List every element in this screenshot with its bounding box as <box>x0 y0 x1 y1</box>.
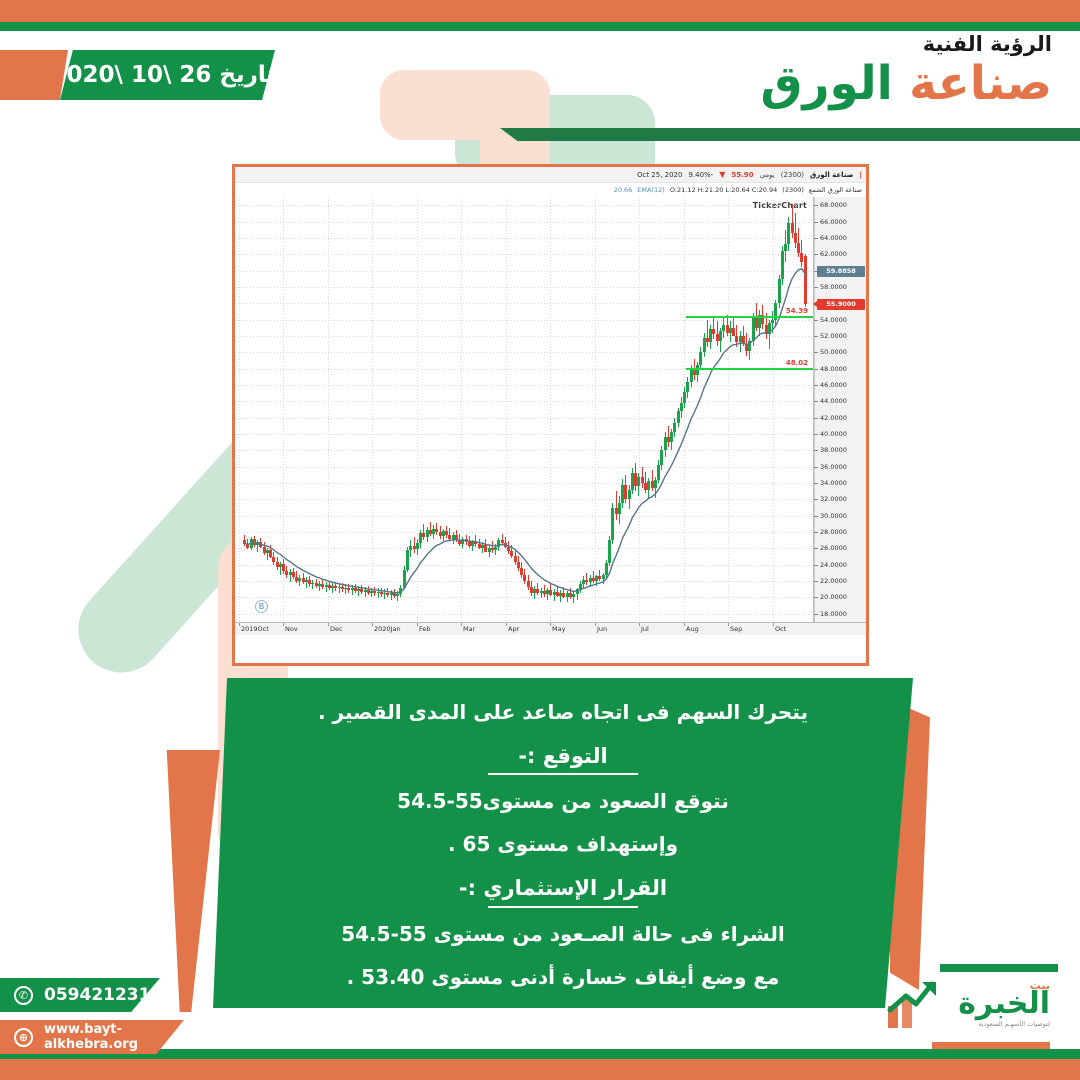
whatsapp-chip[interactable]: ✆ 0594212312 <box>0 978 160 1012</box>
price-axis-tick: 42.0000 <box>814 413 866 423</box>
analysis-divider <box>488 773 638 775</box>
chart-panel: | صناعة الورق (2300) يومي 55.90 ▼ -9.40%… <box>232 164 869 666</box>
poster-canvas: بتاريخ 26 \10 \2020 الرؤية الفنية صناعة … <box>0 0 1080 1080</box>
brand-name: بيت الخبرة <box>958 980 1050 1019</box>
brand-tagline: لتوصيات الأسهـم السعودية <box>978 1020 1050 1028</box>
price-axis-tick: 32.0000 <box>814 494 866 504</box>
decor-orange-wedge-left <box>148 750 220 1012</box>
date-ribbon: بتاريخ 26 \10 \2020 <box>60 50 275 100</box>
date-axis[interactable]: 2019OctNovDec2020JanFebMarAprMayJunJulAu… <box>235 622 866 635</box>
date-axis-tick: May <box>550 623 565 636</box>
price-axis-tick: 46.0000 <box>814 380 866 390</box>
analysis-text: نتوقع الصعود من مستوى55-54.5 <box>271 789 855 814</box>
price-axis-tick: 34.0000 <box>814 478 866 488</box>
support-resistance-label: 54.39 <box>785 307 809 315</box>
date-axis-tick: Sep <box>728 623 742 636</box>
price-axis-tick: 18.0000 <box>814 609 866 619</box>
support-resistance-line <box>686 316 813 318</box>
support-resistance-label: 48.02 <box>785 359 809 367</box>
analysis-text: مع وضع أيقاف خسارة أدنى مستوى 53.40 . <box>271 965 855 990</box>
analysis-divider <box>488 906 638 908</box>
price-axis-tick: 52.0000 <box>814 331 866 341</box>
analysis-text: يتحرك السهم فى اتجاه صاعد على المدى القص… <box>271 700 855 725</box>
price-axis-tick: 50.0000 <box>814 347 866 357</box>
analysis-heading: التوقع :- <box>271 743 855 769</box>
price-axis-tick: 36.0000 <box>814 462 866 472</box>
header-title: صناعة الورق <box>760 58 1052 111</box>
chart-quote-bar: | صناعة الورق (2300) يومي 55.90 ▼ -9.40%… <box>235 167 866 183</box>
support-resistance-line <box>686 368 813 370</box>
date-axis-tick: Oct <box>773 623 786 636</box>
date-axis-tick: Nov <box>283 623 298 636</box>
analysis-text: وإستهداف مستوى 65 . <box>271 832 855 857</box>
date-axis-tick: Jun <box>595 623 607 636</box>
price-axis-tick: 20.0000 <box>814 592 866 602</box>
quote-date: Oct 25, 2020 <box>637 171 683 179</box>
chart-body: TickerChart B 54.3948.02 خطي 68.000066.0… <box>235 197 866 635</box>
whatsapp-number: 0594212312 <box>44 985 162 1005</box>
header-title-orange: صناعة <box>909 56 1052 111</box>
price-axis-tick: 66.0000 <box>814 217 866 227</box>
ohlc-series-name: صناعة الورق الشمع <box>809 186 862 194</box>
price-axis-tick: 28.0000 <box>814 527 866 537</box>
price-axis-tick: 26.0000 <box>814 543 866 553</box>
quote-timeframe: يومي <box>760 171 775 179</box>
price-axis-tick: 64.0000 <box>814 233 866 243</box>
date-axis-tick: Aug <box>684 623 699 636</box>
ohlc-code: (2300) <box>782 186 804 194</box>
growth-arrow-icon <box>882 976 944 1036</box>
date-axis-tick: Dec <box>328 623 343 636</box>
price-axis-tick: 38.0000 <box>814 445 866 455</box>
date-axis-tick: Mar <box>461 623 475 636</box>
brand-name-main: الخبرة <box>958 986 1050 1021</box>
price-axis-tick: 48.0000 <box>814 364 866 374</box>
price-axis-tick: 68.0000 <box>814 200 866 210</box>
header-title-green: الورق <box>760 56 892 111</box>
date-axis-tick: 2019Oct <box>239 623 269 636</box>
top-green-strip <box>0 22 1080 31</box>
bottom-orange-strip <box>0 1059 1080 1080</box>
brand-bottom-bar <box>932 1042 1050 1049</box>
whatsapp-icon: ✆ <box>14 986 33 1005</box>
globe-icon: ⊕ <box>14 1028 33 1047</box>
price-axis-tick: 24.0000 <box>814 560 866 570</box>
price-axis-tick: 54.0000 <box>814 315 866 325</box>
quote-change-pct: -9.40% <box>688 171 713 179</box>
brand-logo: بيت الخبرة لتوصيات الأسهـم السعودية <box>858 958 1058 1053</box>
ema-price-badge: 59.8858 <box>817 266 865 277</box>
date-axis-tick: Feb <box>417 623 431 636</box>
date-label: بتاريخ 26 \10 \2020 <box>51 62 285 88</box>
ema-label: EMA(12) <box>637 186 665 194</box>
price-axis-tick: 62.0000 <box>814 249 866 259</box>
ema-value: 20.66 <box>614 186 633 194</box>
date-axis-tick: Apr <box>506 623 519 636</box>
quote-last-price: 55.90 <box>731 171 753 179</box>
ohlc-values: O:21.12 H:21.20 L:20.64 C:20.94 <box>670 186 777 194</box>
website-chip[interactable]: ⊕ www.bayt-alkhebra.org <box>0 1020 184 1054</box>
date-axis-tick: Jul <box>639 623 649 636</box>
brand-top-bar <box>940 964 1058 972</box>
quote-tick-marker: | <box>859 171 862 179</box>
analysis-heading: القرار الإستثماري :- <box>271 875 855 901</box>
website-url: www.bayt-alkhebra.org <box>44 1022 158 1052</box>
chart-ohlc-bar: صناعة الورق الشمع (2300) O:21.12 H:21.20… <box>235 183 866 197</box>
price-axis[interactable]: خطي 68.000066.000064.000062.000060.00005… <box>814 197 866 635</box>
price-axis-tick: 22.0000 <box>814 576 866 586</box>
chart-plot-area[interactable]: TickerChart B 54.3948.02 <box>235 197 814 635</box>
last-price-badge: 55.9000 <box>817 299 865 310</box>
quote-down-arrow-icon: ▼ <box>719 170 725 179</box>
date-ribbon-accent <box>0 50 68 100</box>
date-axis-tick: 2020Jan <box>372 623 401 636</box>
price-axis-tick: 30.0000 <box>814 511 866 521</box>
price-axis-tick: 58.0000 <box>814 282 866 292</box>
price-axis-tick: 40.0000 <box>814 429 866 439</box>
analysis-text: الشراء فى حالة الصـعود من مستوى 55-54.5 <box>271 922 855 947</box>
quote-symbol-ar: صناعة الورق <box>810 171 853 179</box>
top-orange-strip <box>0 0 1080 22</box>
header-underline-bar <box>500 128 1080 141</box>
price-axis-tick: 44.0000 <box>814 396 866 406</box>
header-block: الرؤية الفنية صناعة الورق <box>760 32 1052 111</box>
header-subtitle: الرؤية الفنية <box>760 32 1052 56</box>
ema-overlay-line <box>235 197 813 622</box>
analysis-panel: يتحرك السهم فى اتجاه صاعد على المدى القص… <box>213 678 913 1008</box>
quote-code: (2300) <box>781 171 804 179</box>
